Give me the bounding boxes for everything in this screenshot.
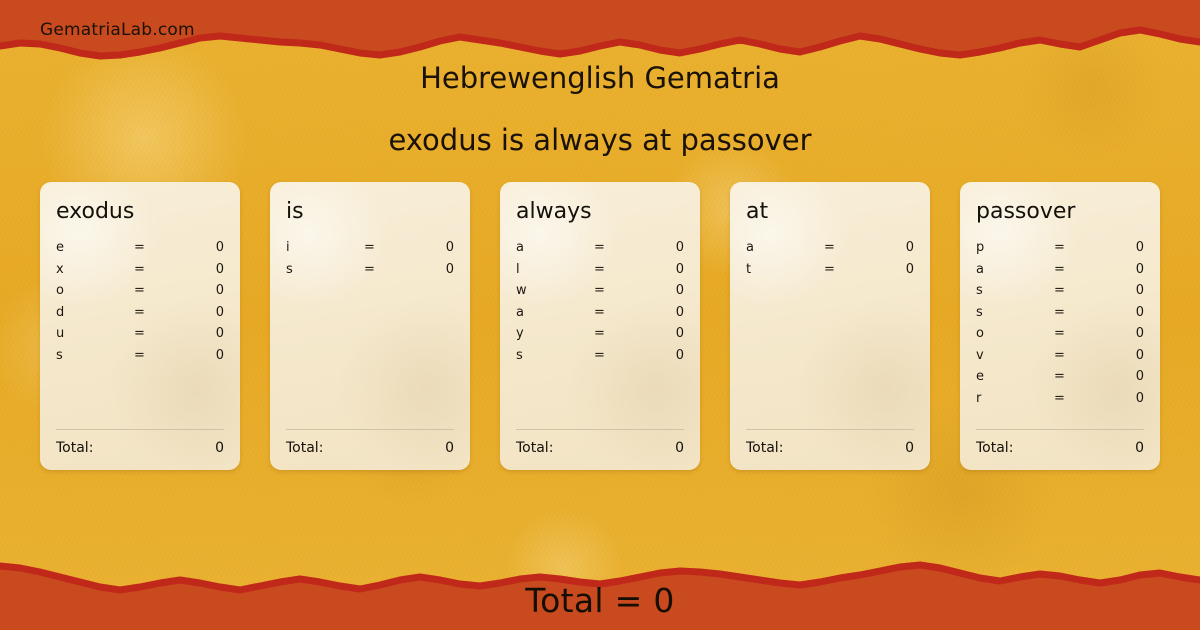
card-total-label: Total: bbox=[976, 440, 1013, 456]
equals-sign: = bbox=[594, 305, 628, 320]
headings-block: Hebrewenglish Gematria exodus is always … bbox=[0, 58, 1200, 160]
letter-value: 0 bbox=[628, 348, 684, 363]
equals-sign: = bbox=[594, 326, 628, 341]
letter-row: x = 0 bbox=[56, 262, 224, 284]
letter-row: o = 0 bbox=[976, 326, 1144, 348]
letter-row: a = 0 bbox=[516, 240, 684, 262]
letter-row: p = 0 bbox=[976, 240, 1144, 262]
letter-value: 0 bbox=[168, 283, 224, 298]
card-total-row: Total: 0 bbox=[56, 440, 224, 456]
letter-value: 0 bbox=[858, 240, 914, 255]
card-divider bbox=[976, 429, 1144, 430]
letter-value: 0 bbox=[628, 305, 684, 320]
letter-char: l bbox=[516, 262, 594, 277]
equals-sign: = bbox=[134, 326, 168, 341]
letter-value: 0 bbox=[398, 262, 454, 277]
letter-values-list: a = 0 l = 0 w = 0 a = 0 bbox=[516, 240, 684, 429]
card-word-title: always bbox=[516, 198, 684, 226]
letter-char: a bbox=[516, 305, 594, 320]
word-card: always a = 0 l = 0 w = 0 a bbox=[500, 182, 700, 470]
card-total-value: 0 bbox=[905, 440, 914, 456]
letter-char: s bbox=[976, 283, 1054, 298]
card-total-row: Total: 0 bbox=[516, 440, 684, 456]
letter-value: 0 bbox=[1088, 262, 1144, 277]
letter-row: v = 0 bbox=[976, 348, 1144, 370]
letter-value: 0 bbox=[1088, 348, 1144, 363]
letter-char: v bbox=[976, 348, 1054, 363]
equals-sign: = bbox=[134, 348, 168, 363]
letter-value: 0 bbox=[1088, 305, 1144, 320]
equals-sign: = bbox=[1054, 348, 1088, 363]
letter-char: p bbox=[976, 240, 1054, 255]
letter-value: 0 bbox=[858, 262, 914, 277]
letter-value: 0 bbox=[628, 262, 684, 277]
letter-row: r = 0 bbox=[976, 391, 1144, 413]
letter-value: 0 bbox=[628, 326, 684, 341]
equals-sign: = bbox=[594, 262, 628, 277]
letter-row: a = 0 bbox=[976, 262, 1144, 284]
letter-char: d bbox=[56, 305, 134, 320]
card-word-title: passover bbox=[976, 198, 1144, 226]
site-name[interactable]: GematriaLab.com bbox=[40, 20, 195, 40]
page-canvas: GematriaLab.com Hebrewenglish Gematria e… bbox=[0, 0, 1200, 630]
equals-sign: = bbox=[594, 283, 628, 298]
letter-row: t = 0 bbox=[746, 262, 914, 284]
word-cards-container: exodus e = 0 x = 0 o = 0 d bbox=[40, 182, 1160, 470]
equals-sign: = bbox=[1054, 262, 1088, 277]
equals-sign: = bbox=[134, 283, 168, 298]
letter-value: 0 bbox=[1088, 240, 1144, 255]
letter-char: y bbox=[516, 326, 594, 341]
equals-sign: = bbox=[1054, 240, 1088, 255]
letter-value: 0 bbox=[168, 326, 224, 341]
letter-char: e bbox=[976, 369, 1054, 384]
phrase-text: exodus is always at passover bbox=[0, 120, 1200, 160]
letter-char: u bbox=[56, 326, 134, 341]
letter-row: s = 0 bbox=[976, 283, 1144, 305]
letter-value: 0 bbox=[168, 348, 224, 363]
letter-values-list: i = 0 s = 0 bbox=[286, 240, 454, 429]
page-title: Hebrewenglish Gematria bbox=[0, 58, 1200, 98]
equals-sign: = bbox=[1054, 369, 1088, 384]
equals-sign: = bbox=[1054, 305, 1088, 320]
card-total-value: 0 bbox=[1135, 440, 1144, 456]
letter-char: s bbox=[286, 262, 364, 277]
letter-char: s bbox=[976, 305, 1054, 320]
card-total-label: Total: bbox=[746, 440, 783, 456]
letter-row: a = 0 bbox=[516, 305, 684, 327]
letter-row: w = 0 bbox=[516, 283, 684, 305]
letter-row: s = 0 bbox=[976, 305, 1144, 327]
letter-row: e = 0 bbox=[976, 369, 1144, 391]
letter-row: y = 0 bbox=[516, 326, 684, 348]
letter-row: e = 0 bbox=[56, 240, 224, 262]
card-divider bbox=[56, 429, 224, 430]
card-total-label: Total: bbox=[286, 440, 323, 456]
letter-char: e bbox=[56, 240, 134, 255]
equals-sign: = bbox=[1054, 283, 1088, 298]
equals-sign: = bbox=[824, 262, 858, 277]
card-total-label: Total: bbox=[56, 440, 93, 456]
letter-values-list: p = 0 a = 0 s = 0 s = 0 bbox=[976, 240, 1144, 429]
letter-char: t bbox=[746, 262, 824, 277]
letter-char: i bbox=[286, 240, 364, 255]
card-word-title: at bbox=[746, 198, 914, 226]
letter-row: o = 0 bbox=[56, 283, 224, 305]
equals-sign: = bbox=[134, 240, 168, 255]
equals-sign: = bbox=[134, 262, 168, 277]
letter-value: 0 bbox=[628, 283, 684, 298]
equals-sign: = bbox=[824, 240, 858, 255]
word-card: passover p = 0 a = 0 s = 0 s bbox=[960, 182, 1160, 470]
card-total-label: Total: bbox=[516, 440, 553, 456]
letter-char: r bbox=[976, 391, 1054, 406]
card-divider bbox=[286, 429, 454, 430]
card-total-row: Total: 0 bbox=[746, 440, 914, 456]
letter-char: a bbox=[746, 240, 824, 255]
card-total-value: 0 bbox=[445, 440, 454, 456]
letter-value: 0 bbox=[168, 240, 224, 255]
card-divider bbox=[516, 429, 684, 430]
equals-sign: = bbox=[1054, 391, 1088, 406]
word-card: at a = 0 t = 0 Total: 0 bbox=[730, 182, 930, 470]
equals-sign: = bbox=[364, 240, 398, 255]
card-total-row: Total: 0 bbox=[286, 440, 454, 456]
word-card: exodus e = 0 x = 0 o = 0 d bbox=[40, 182, 240, 470]
letter-row: a = 0 bbox=[746, 240, 914, 262]
equals-sign: = bbox=[594, 240, 628, 255]
card-divider bbox=[746, 429, 914, 430]
letter-char: a bbox=[976, 262, 1054, 277]
card-total-value: 0 bbox=[675, 440, 684, 456]
letter-values-list: e = 0 x = 0 o = 0 d = 0 bbox=[56, 240, 224, 429]
letter-value: 0 bbox=[1088, 326, 1144, 341]
letter-char: o bbox=[56, 283, 134, 298]
word-card: is i = 0 s = 0 Total: 0 bbox=[270, 182, 470, 470]
letter-values-list: a = 0 t = 0 bbox=[746, 240, 914, 429]
letter-row: s = 0 bbox=[516, 348, 684, 370]
letter-value: 0 bbox=[1088, 369, 1144, 384]
letter-row: u = 0 bbox=[56, 326, 224, 348]
letter-char: s bbox=[56, 348, 134, 363]
letter-value: 0 bbox=[1088, 283, 1144, 298]
letter-char: w bbox=[516, 283, 594, 298]
letter-char: o bbox=[976, 326, 1054, 341]
letter-char: x bbox=[56, 262, 134, 277]
equals-sign: = bbox=[594, 348, 628, 363]
equals-sign: = bbox=[364, 262, 398, 277]
equals-sign: = bbox=[134, 305, 168, 320]
letter-char: s bbox=[516, 348, 594, 363]
grand-total: Total = 0 bbox=[0, 581, 1200, 620]
card-word-title: is bbox=[286, 198, 454, 226]
letter-value: 0 bbox=[628, 240, 684, 255]
card-word-title: exodus bbox=[56, 198, 224, 226]
letter-value: 0 bbox=[168, 262, 224, 277]
equals-sign: = bbox=[1054, 326, 1088, 341]
letter-row: l = 0 bbox=[516, 262, 684, 284]
card-total-row: Total: 0 bbox=[976, 440, 1144, 456]
letter-value: 0 bbox=[168, 305, 224, 320]
card-total-value: 0 bbox=[215, 440, 224, 456]
letter-value: 0 bbox=[398, 240, 454, 255]
letter-value: 0 bbox=[1088, 391, 1144, 406]
letter-row: s = 0 bbox=[286, 262, 454, 284]
letter-row: s = 0 bbox=[56, 348, 224, 370]
letter-char: a bbox=[516, 240, 594, 255]
letter-row: d = 0 bbox=[56, 305, 224, 327]
letter-row: i = 0 bbox=[286, 240, 454, 262]
